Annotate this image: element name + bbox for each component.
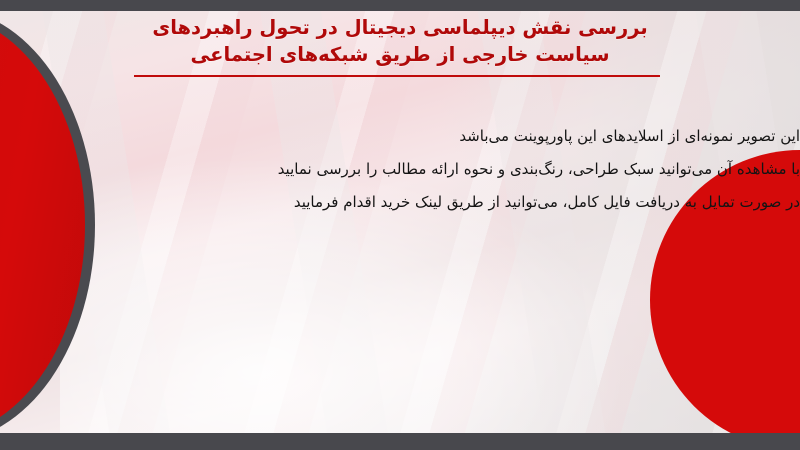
body-line-1: این تصویر نمونه‌ای از اسلایدهای این پاور…	[60, 120, 800, 153]
slide-body-text: این تصویر نمونه‌ای از اسلایدهای این پاور…	[0, 120, 800, 219]
body-line-2: با مشاهده آن می‌توانید سبک طراحی، رنگ‌بن…	[60, 153, 800, 186]
body-line-3: در صورت تمایل به دریافت فایل کامل، می‌تو…	[60, 186, 800, 219]
frame-band-top	[0, 0, 800, 11]
slide-title-line-2: سیاست خارجی از طریق شبکه‌های اجتماعی	[0, 41, 800, 68]
slide-title-line-1: بررسی نقش دیپلماسی دیجیتال در تحول راهبر…	[0, 14, 800, 41]
title-underline-rule	[134, 75, 660, 77]
slide-title: بررسی نقش دیپلماسی دیجیتال در تحول راهبر…	[0, 14, 800, 68]
frame-band-bottom	[0, 433, 800, 450]
presentation-slide: بررسی نقش دیپلماسی دیجیتال در تحول راهبر…	[0, 0, 800, 450]
